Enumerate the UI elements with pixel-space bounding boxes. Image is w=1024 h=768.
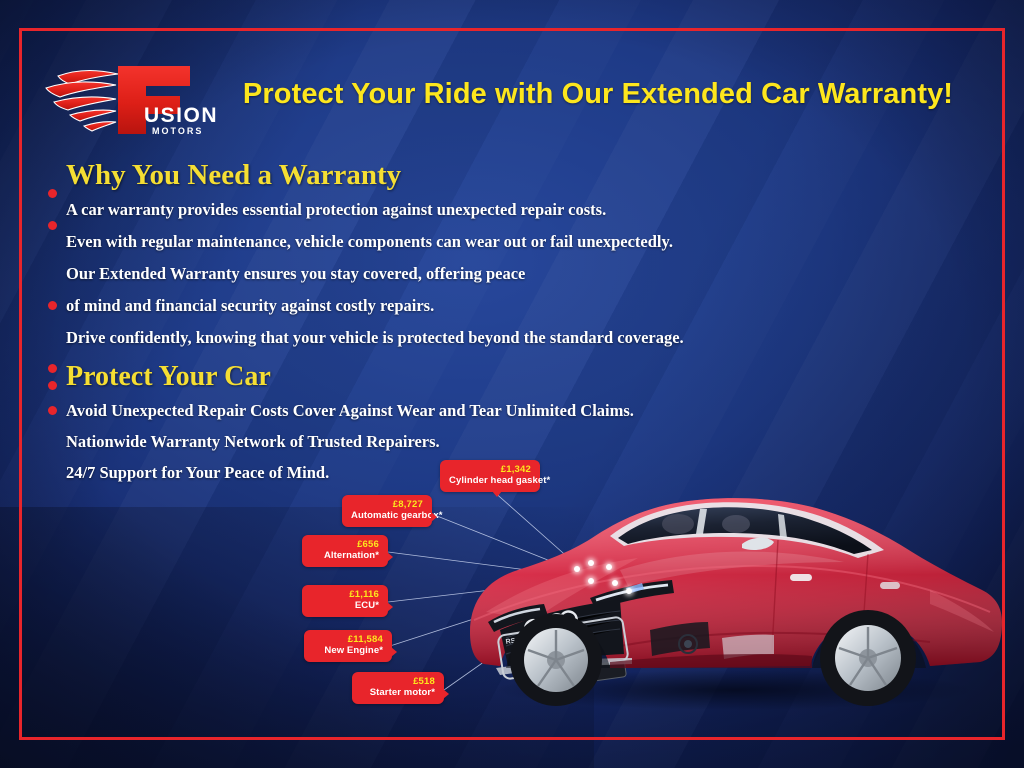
car-icon: RS 7 FUSION MOTORS quattro (460, 462, 1005, 712)
list-item: Avoid Unexpected Repair Costs Cover Agai… (46, 399, 786, 423)
list-item-text: Drive confidently, knowing that your veh… (66, 328, 684, 347)
callout-part: New Engine* (313, 646, 383, 657)
hotspot-dot (612, 580, 618, 586)
callout-part: ECU* (311, 601, 379, 612)
hotspot-dot (588, 560, 594, 566)
section-heading: Protect Your Car (66, 362, 786, 391)
svg-text:MOTORS: MOTORS (152, 126, 203, 136)
callout-pointer-icon (387, 552, 393, 562)
callout-starter-motor[interactable]: £518 Starter motor* (352, 672, 444, 704)
red-audi-car-illustration: RS 7 FUSION MOTORS quattro (460, 462, 1005, 712)
list-item: of mind and financial security against c… (46, 294, 786, 318)
fusion-motors-logo: USION MOTORS (40, 52, 222, 136)
callout-ecu[interactable]: £1,116 ECU* (302, 585, 388, 617)
callout-pointer-icon (391, 647, 397, 657)
bullet-list: A car warranty provides essential protec… (46, 198, 786, 350)
section-heading: Why You Need a Warranty (66, 160, 786, 190)
list-item: A car warranty provides essential protec… (46, 198, 786, 222)
car-diagram: £1,342 Cylinder head gasket* £8,727 Auto… (290, 440, 1002, 740)
list-item: Even with regular maintenance, vehicle c… (46, 230, 786, 254)
callout-part: Starter motor* (361, 688, 435, 699)
callout-pointer-icon (443, 689, 449, 699)
callout-pointer-icon (431, 512, 437, 522)
list-item-text: Avoid Unexpected Repair Costs Cover Agai… (66, 401, 634, 420)
callout-part: Automatic gearbox* (351, 511, 423, 522)
list-item-text: A car warranty provides essential protec… (66, 200, 606, 219)
list-item: Our Extended Warranty ensures you stay c… (46, 262, 786, 286)
list-item-text: of mind and financial security against c… (66, 296, 434, 315)
list-item-text: Our Extended Warranty ensures you stay c… (66, 264, 525, 283)
bullet-dot (48, 364, 57, 373)
callout-automatic-gearbox[interactable]: £8,727 Automatic gearbox* (342, 495, 432, 527)
section-why-you-need-a-warranty: Why You Need a Warranty A car warranty p… (46, 160, 786, 358)
poster: USION MOTORS Protect Your Ride with Our … (0, 0, 1024, 768)
bullet-dot (48, 406, 57, 415)
hotspot-dot (626, 588, 632, 594)
svg-text:USION: USION (144, 104, 218, 127)
heading-bullet-group (48, 364, 60, 398)
hotspot-dot (606, 564, 612, 570)
list-item: Drive confidently, knowing that your veh… (46, 326, 786, 350)
bullet-dot (48, 381, 57, 390)
hotspot-dot (588, 578, 594, 584)
callout-part: Alternation* (311, 551, 379, 562)
page-title: Protect Your Ride with Our Extended Car … (222, 78, 984, 111)
header: USION MOTORS Protect Your Ride with Our … (40, 52, 984, 136)
callout-alternation[interactable]: £656 Alternation* (302, 535, 388, 567)
callout-new-engine[interactable]: £11,584 New Engine* (304, 630, 392, 662)
bullet-dot (48, 221, 57, 230)
callout-pointer-icon (387, 602, 393, 612)
bullet-dot (48, 189, 57, 198)
bullet-dot (48, 301, 57, 310)
flame-f-icon: USION MOTORS (40, 52, 222, 136)
list-item-text: Even with regular maintenance, vehicle c… (66, 232, 673, 251)
hotspot-dot (574, 566, 580, 572)
